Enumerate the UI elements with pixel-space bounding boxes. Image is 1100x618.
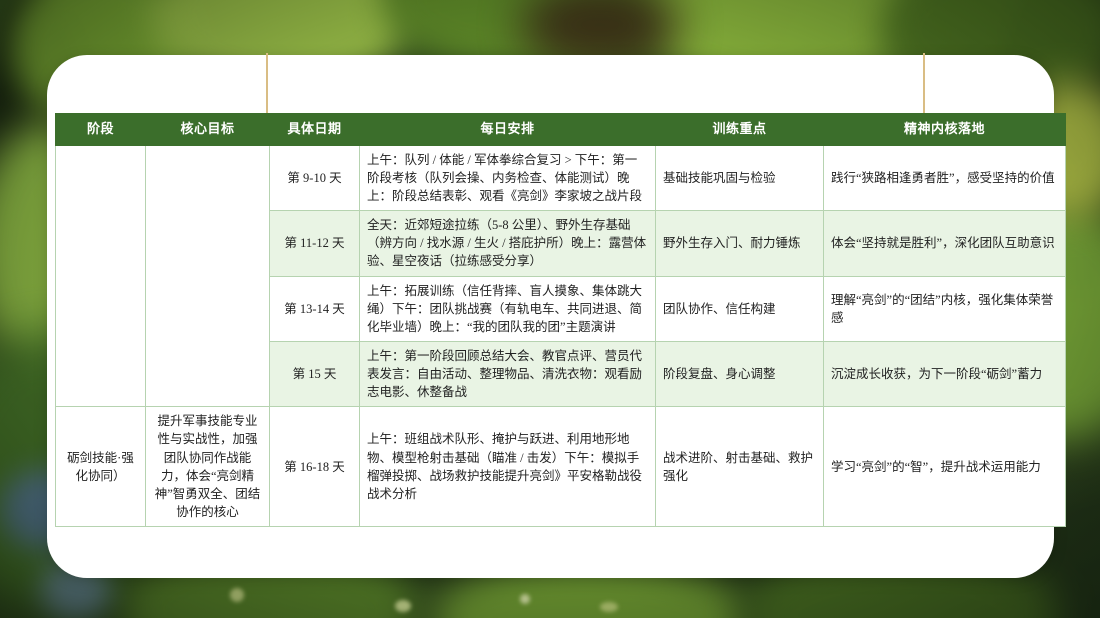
- cell-focus: 基础技能巩固与检验: [656, 145, 824, 210]
- pin-cord-icon: [923, 53, 925, 121]
- cell-plan: 上午：班组战术队形、掩护与跃进、利用地形地物、模型枪射击基础（瞄准 / 击发）下…: [360, 407, 656, 527]
- cell-goal: [146, 145, 270, 407]
- cell-date: 第 15 天: [270, 341, 360, 406]
- cell-focus: 团队协作、信任构建: [656, 276, 824, 341]
- cell-date: 第 11-12 天: [270, 211, 360, 276]
- schedule-table-wrapper: 阶段 核心目标 具体日期 每日安排 训练重点 精神内核落地 第 9-10 天 上…: [55, 113, 1065, 527]
- cell-stage: [56, 145, 146, 407]
- cell-spirit: 体会“坚持就是胜利”，深化团队互助意识: [824, 211, 1066, 276]
- column-header-plan: 每日安排: [360, 114, 656, 146]
- cell-plan: 全天：近郊短途拉练（5-8 公里）、野外生存基础（辨方向 / 找水源 / 生火 …: [360, 211, 656, 276]
- content-card: 45天课程详细内容 阶段 核心目标 具体日期 每日安排 训练重点 精神内核落地: [47, 55, 1054, 578]
- cell-goal: 提升军事技能专业性与实战性，加强团队协同作战能力，体会“亮剑精神”智勇双全、团结…: [146, 407, 270, 527]
- cell-focus: 野外生存入门、耐力锤炼: [656, 211, 824, 276]
- cell-spirit: 学习“亮剑”的“智”，提升战术运用能力: [824, 407, 1066, 527]
- column-header-goal: 核心目标: [146, 114, 270, 146]
- cell-plan: 上午：第一阶段回顾总结大会、教官点评、营员代表发言：自由活动、整理物品、清洗衣物…: [360, 341, 656, 406]
- table-row: 砺剑技能·强化协同） 提升军事技能专业性与实战性，加强团队协同作战能力，体会“亮…: [56, 407, 1066, 527]
- cell-spirit: 践行“狭路相逢勇者胜”，感受坚持的价值: [824, 145, 1066, 210]
- column-header-focus: 训练重点: [656, 114, 824, 146]
- table-row: 第 9-10 天 上午：队列 / 体能 / 军体拳综合复习 > 下午：第一阶段考…: [56, 145, 1066, 210]
- cell-focus: 阶段复盘、身心调整: [656, 341, 824, 406]
- cell-plan: 上午：队列 / 体能 / 军体拳综合复习 > 下午：第一阶段考核（队列会操、内务…: [360, 145, 656, 210]
- slide-canvas: 45天课程详细内容 阶段 核心目标 具体日期 每日安排 训练重点 精神内核落地: [0, 0, 1100, 618]
- column-header-date: 具体日期: [270, 114, 360, 146]
- cell-date: 第 13-14 天: [270, 276, 360, 341]
- cell-date: 第 9-10 天: [270, 145, 360, 210]
- cell-stage: 砺剑技能·强化协同）: [56, 407, 146, 527]
- cell-spirit: 理解“亮剑”的“团结”内核，强化集体荣誉感: [824, 276, 1066, 341]
- column-header-spirit: 精神内核落地: [824, 114, 1066, 146]
- cell-date: 第 16-18 天: [270, 407, 360, 527]
- cell-focus: 战术进阶、射击基础、救护强化: [656, 407, 824, 527]
- cell-spirit: 沉淀成长收获，为下一阶段“砺剑”蓄力: [824, 341, 1066, 406]
- schedule-table: 阶段 核心目标 具体日期 每日安排 训练重点 精神内核落地 第 9-10 天 上…: [55, 113, 1066, 527]
- cell-plan: 上午：拓展训练（信任背摔、盲人摸象、集体跳大绳）下午：团队挑战赛（有轨电车、共同…: [360, 276, 656, 341]
- column-header-stage: 阶段: [56, 114, 146, 146]
- table-header-row: 阶段 核心目标 具体日期 每日安排 训练重点 精神内核落地: [56, 114, 1066, 146]
